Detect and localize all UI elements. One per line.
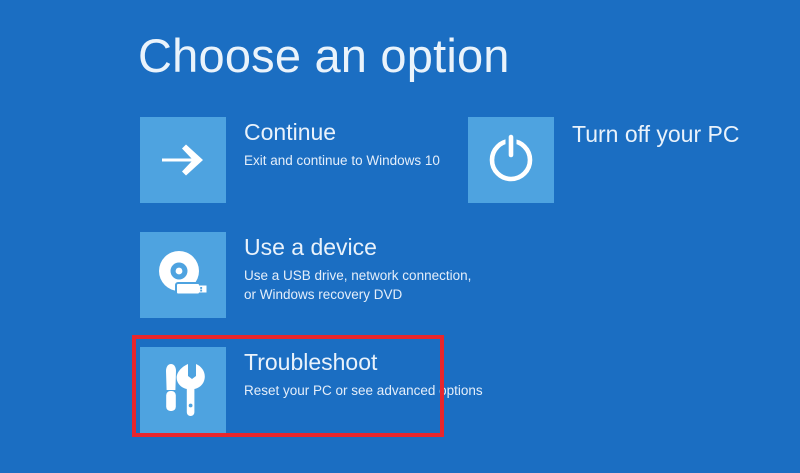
option-turn-off-pc[interactable]: Turn off your PC [468,117,739,203]
option-troubleshoot-title: Troubleshoot [244,349,483,377]
option-continue-text: Continue Exit and continue to Windows 10 [244,117,440,170]
option-use-a-device-tile[interactable] [140,232,226,318]
option-troubleshoot-text: Troubleshoot Reset your PC or see advanc… [244,347,483,400]
option-turn-off-pc-text: Turn off your PC [572,117,739,149]
option-use-a-device[interactable]: Use a device Use a USB drive, network co… [140,232,471,318]
option-continue-desc-line-1: Exit and continue to Windows 10 [244,151,440,170]
power-icon [485,133,537,187]
page-title: Choose an option [138,28,510,83]
option-use-a-device-desc: Use a USB drive, network connection, or … [244,266,471,304]
option-troubleshoot-desc: Reset your PC or see advanced options [244,381,483,400]
option-use-a-device-desc-line-1: Use a USB drive, network connection, [244,266,471,285]
option-turn-off-pc-title: Turn off your PC [572,121,739,149]
option-use-a-device-desc-line-2: or Windows recovery DVD [244,285,471,304]
screwdriver-wrench-icon [158,362,208,418]
option-troubleshoot[interactable]: Troubleshoot Reset your PC or see advanc… [140,347,483,433]
option-continue-title: Continue [244,119,440,147]
option-use-a-device-title: Use a device [244,234,471,262]
option-continue-desc: Exit and continue to Windows 10 [244,151,440,170]
arrow-right-icon [158,140,208,180]
option-continue[interactable]: Continue Exit and continue to Windows 10 [140,117,440,203]
option-troubleshoot-desc-line-1: Reset your PC or see advanced options [244,381,483,400]
option-continue-tile[interactable] [140,117,226,203]
disc-usb-drive-icon [154,248,212,302]
option-turn-off-pc-tile[interactable] [468,117,554,203]
option-troubleshoot-tile[interactable] [140,347,226,433]
option-use-a-device-text: Use a device Use a USB drive, network co… [244,232,471,304]
recovery-screen: Choose an option Continue Exit and conti… [0,0,800,473]
